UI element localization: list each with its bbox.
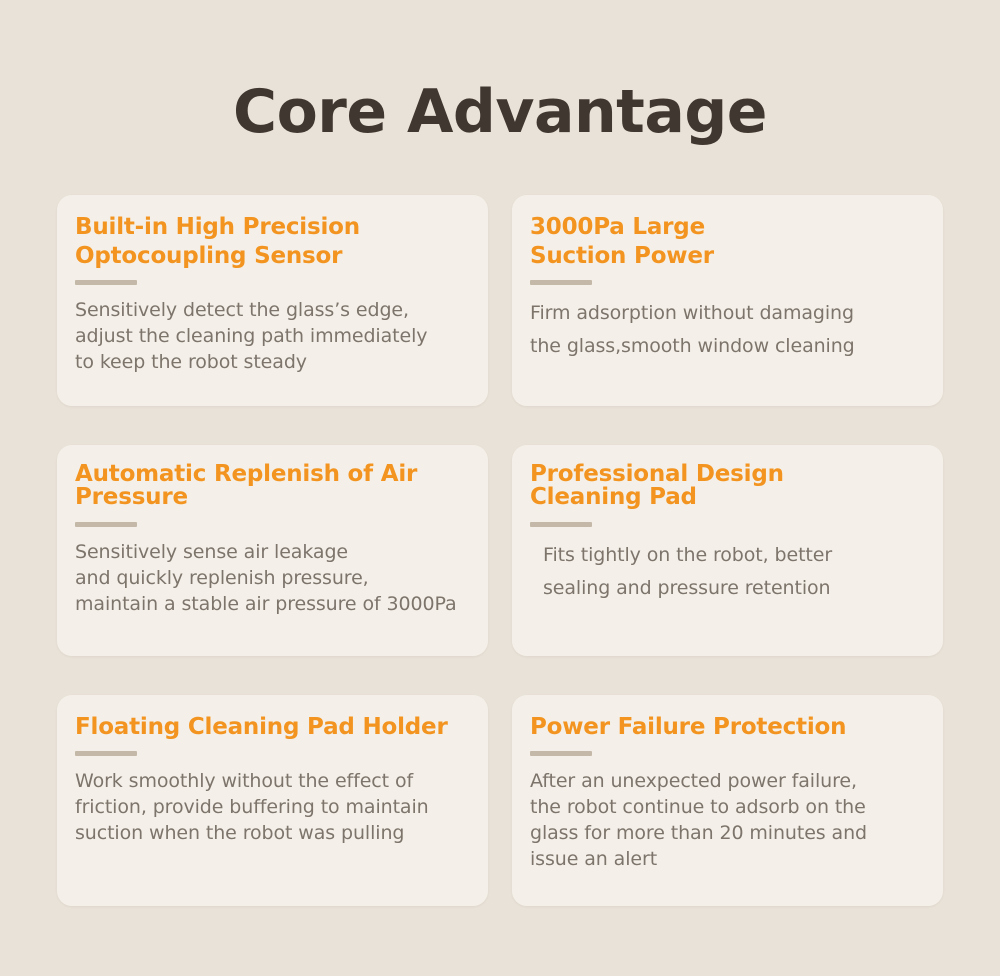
page-title: Core Advantage: [0, 0, 1000, 142]
advantage-card-suction-power: 3000Pa Large Suction Power Firm adsorpti…: [512, 195, 943, 406]
card-heading: Professional Design Cleaning Pad: [530, 463, 921, 510]
advantage-card-power-failure-protection: Power Failure Protection After an unexpe…: [512, 695, 943, 906]
card-heading: Automatic Replenish of Air Pressure: [75, 463, 466, 510]
advantage-card-cleaning-pad: Professional Design Cleaning Pad Fits ti…: [512, 445, 943, 656]
card-heading: Built-in High Precision Optocoupling Sen…: [75, 213, 466, 271]
core-advantage-page: Core Advantage Built-in High Precision O…: [0, 0, 1000, 976]
card-body: After an unexpected power failure, the r…: [530, 768, 921, 872]
advantage-card-optocoupling-sensor: Built-in High Precision Optocoupling Sen…: [57, 195, 488, 406]
card-heading: Floating Cleaning Pad Holder: [75, 713, 466, 742]
card-heading: 3000Pa Large Suction Power: [530, 213, 921, 271]
card-body: Work smoothly without the effect of fric…: [75, 768, 466, 846]
card-body: Sensitively sense air leakage and quickl…: [75, 539, 466, 617]
card-divider: [75, 280, 137, 285]
card-body: Sensitively detect the glass’s edge, adj…: [75, 297, 466, 375]
card-heading: Power Failure Protection: [530, 713, 921, 742]
advantage-card-grid: Built-in High Precision Optocoupling Sen…: [0, 195, 1000, 906]
card-divider: [530, 280, 592, 285]
card-divider: [75, 522, 137, 527]
advantage-card-air-pressure-replenish: Automatic Replenish of Air Pressure Sens…: [57, 445, 488, 656]
card-divider: [75, 751, 137, 756]
card-body: Fits tightly on the robot, better sealin…: [530, 539, 921, 604]
card-divider: [530, 751, 592, 756]
advantage-card-floating-pad-holder: Floating Cleaning Pad Holder Work smooth…: [57, 695, 488, 906]
card-divider: [530, 522, 592, 527]
card-body: Firm adsorption without damaging the gla…: [530, 297, 921, 362]
